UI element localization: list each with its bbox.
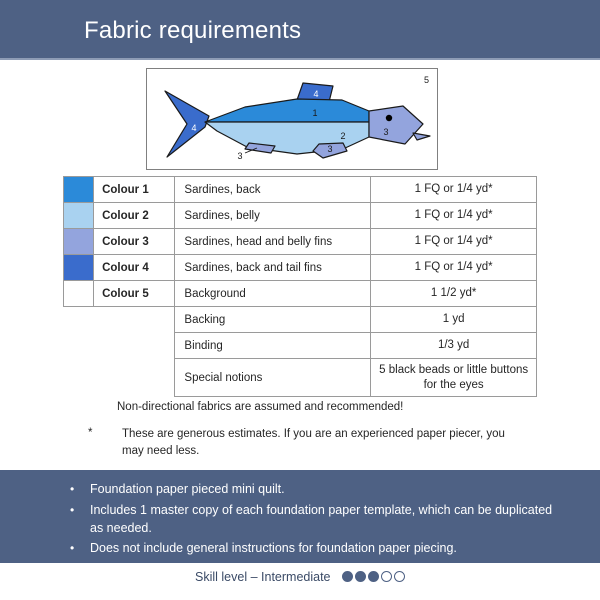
list-item: •Includes 1 master copy of each foundati… bbox=[62, 502, 562, 538]
fabric-description-cell: Binding bbox=[175, 333, 371, 359]
colour-swatch bbox=[64, 177, 93, 202]
table-row: Colour 5Background1 1/2 yd* bbox=[64, 281, 537, 307]
colour-name-cell: Colour 1 bbox=[94, 177, 175, 203]
table-row: Colour 1Sardines, back1 FQ or 1/4 yd* bbox=[64, 177, 537, 203]
fabric-description-cell: Special notions bbox=[175, 359, 371, 397]
list-item: •Does not include general instructions f… bbox=[62, 540, 562, 558]
colour-name-cell: Colour 3 bbox=[94, 229, 175, 255]
bullet-dot-icon: • bbox=[70, 502, 74, 519]
colour-swatch-cell bbox=[64, 177, 94, 203]
colour-swatch-cell bbox=[64, 255, 94, 281]
part-label-tail: 4 bbox=[191, 123, 196, 133]
list-item-label: Foundation paper pieced mini quilt. bbox=[90, 482, 285, 496]
sardine-diagram-svg: 1 2 3 3 3 4 4 bbox=[147, 69, 437, 169]
table-body: Colour 1Sardines, back1 FQ or 1/4 yd*Col… bbox=[64, 177, 537, 397]
fabric-description-cell: Sardines, back and tail fins bbox=[175, 255, 371, 281]
skill-dot-filled-icon bbox=[342, 571, 353, 582]
header-band: Fabric requirements bbox=[0, 0, 600, 60]
fabric-amount-cell: 5 black beads or little buttons for the … bbox=[371, 359, 537, 397]
fabric-amount-cell: 1 FQ or 1/4 yd* bbox=[371, 203, 537, 229]
fabric-description-cell: Background bbox=[175, 281, 371, 307]
colour-swatch-cell bbox=[64, 203, 94, 229]
part-label-belly-fin-right: 3 bbox=[327, 144, 332, 154]
empty-cell bbox=[64, 359, 94, 397]
table-row: Colour 2Sardines, belly1 FQ or 1/4 yd* bbox=[64, 203, 537, 229]
fabric-amount-cell: 1/3 yd bbox=[371, 333, 537, 359]
colour-swatch bbox=[64, 255, 93, 280]
colour-swatch bbox=[64, 203, 93, 228]
list-item: •Foundation paper pieced mini quilt. bbox=[62, 481, 562, 499]
bullet-dot-icon: • bbox=[70, 481, 74, 498]
skill-level-label: Skill level – Intermediate bbox=[195, 570, 330, 584]
part-label-dorsal-fin: 4 bbox=[313, 89, 318, 99]
skill-level-dots bbox=[340, 571, 405, 585]
bottom-info-panel: •Foundation paper pieced mini quilt.•Inc… bbox=[0, 470, 600, 563]
empty-cell bbox=[94, 307, 175, 333]
table-row: Binding1/3 yd bbox=[64, 333, 537, 359]
skill-dot-filled-icon bbox=[368, 571, 379, 582]
fabric-requirements-table: Colour 1Sardines, back1 FQ or 1/4 yd*Col… bbox=[63, 176, 537, 397]
non-directional-note: Non-directional fabrics are assumed and … bbox=[117, 401, 403, 413]
fish-back-shape bbox=[205, 99, 369, 122]
list-item-label: Does not include general instructions fo… bbox=[90, 541, 457, 555]
page-title: Fabric requirements bbox=[84, 17, 301, 45]
fabric-description-cell: Sardines, belly bbox=[175, 203, 371, 229]
part-label-head: 3 bbox=[383, 127, 388, 137]
skill-dot-empty-icon bbox=[394, 571, 405, 582]
footnote-asterisk: * bbox=[88, 427, 102, 439]
table-row: Special notions5 black beads or little b… bbox=[64, 359, 537, 397]
colour-swatch bbox=[64, 281, 93, 306]
colour-swatch-cell bbox=[64, 281, 94, 307]
empty-cell bbox=[64, 333, 94, 359]
product-bullet-list: •Foundation paper pieced mini quilt.•Inc… bbox=[62, 481, 562, 561]
empty-cell bbox=[64, 307, 94, 333]
footnote-text: These are generous estimates. If you are… bbox=[122, 426, 508, 459]
estimates-footnote: * These are generous estimates. If you a… bbox=[88, 426, 508, 459]
fabric-amount-cell: 1 yd bbox=[371, 307, 537, 333]
fish-mouth-shape bbox=[413, 133, 430, 140]
skill-dot-filled-icon bbox=[355, 571, 366, 582]
fabric-amount-cell: 1 FQ or 1/4 yd* bbox=[371, 255, 537, 281]
fish-tail-shape bbox=[165, 91, 209, 157]
fish-head-shape bbox=[369, 106, 423, 144]
fabric-description-cell: Sardines, head and belly fins bbox=[175, 229, 371, 255]
colour-name-cell: Colour 2 bbox=[94, 203, 175, 229]
fabric-description-cell: Sardines, back bbox=[175, 177, 371, 203]
part-label-belly: 2 bbox=[340, 131, 345, 141]
empty-cell bbox=[94, 333, 175, 359]
table-row: Backing1 yd bbox=[64, 307, 537, 333]
list-item-label: Includes 1 master copy of each foundatio… bbox=[90, 503, 552, 535]
table-row: Colour 3Sardines, head and belly fins1 F… bbox=[64, 229, 537, 255]
part-label-belly-fin-left: 3 bbox=[237, 151, 242, 161]
fabric-amount-cell: 1 FQ or 1/4 yd* bbox=[371, 177, 537, 203]
part-label-back: 1 bbox=[312, 108, 317, 118]
table-row: Colour 4Sardines, back and tail fins1 FQ… bbox=[64, 255, 537, 281]
colour-swatch bbox=[64, 229, 93, 254]
diagram-frame: 5 1 2 3 3 3 4 4 bbox=[146, 68, 438, 170]
skill-level-row: Skill level – Intermediate bbox=[0, 570, 600, 585]
colour-swatch-cell bbox=[64, 229, 94, 255]
background-part-label: 5 bbox=[424, 75, 429, 85]
skill-dot-empty-icon bbox=[381, 571, 392, 582]
colour-name-cell: Colour 5 bbox=[94, 281, 175, 307]
fabric-amount-cell: 1 1/2 yd* bbox=[371, 281, 537, 307]
fish-eye-dot bbox=[386, 115, 392, 121]
colour-name-cell: Colour 4 bbox=[94, 255, 175, 281]
bullet-dot-icon: • bbox=[70, 540, 74, 557]
fabric-description-cell: Backing bbox=[175, 307, 371, 333]
empty-cell bbox=[94, 359, 175, 397]
fabric-amount-cell: 1 FQ or 1/4 yd* bbox=[371, 229, 537, 255]
